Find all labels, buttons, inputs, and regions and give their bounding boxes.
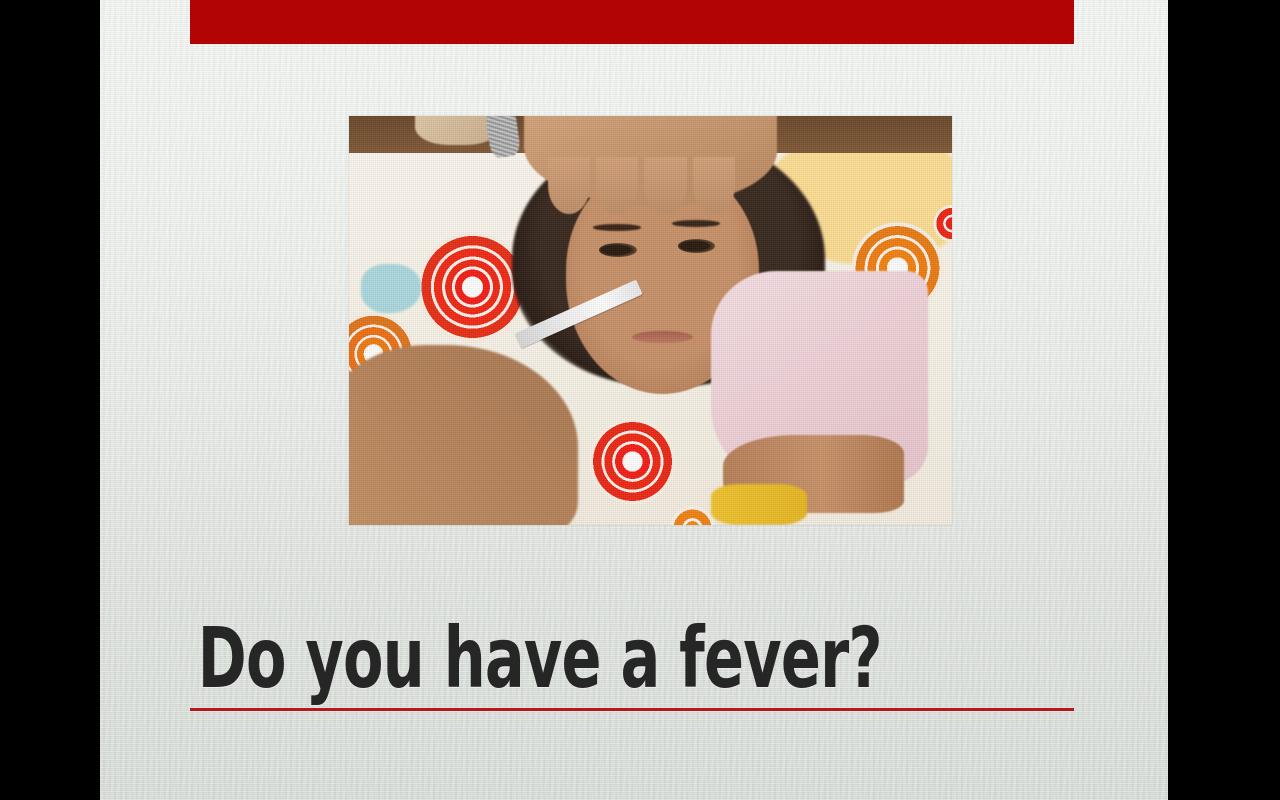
photo-eye-right [678, 239, 715, 253]
photo-eyebrow-left [593, 224, 641, 231]
photo-yellow-blanket-edge [711, 484, 807, 525]
letterbox-right [1168, 0, 1280, 800]
photo-child-mouth [632, 331, 692, 343]
slide-canvas: Do you have a fever? [100, 0, 1168, 800]
sick-child-photo [349, 116, 952, 525]
title-underline-rule [190, 708, 1074, 711]
content-image-frame[interactable] [349, 116, 952, 525]
title-block: Do you have a fever? [190, 612, 1074, 711]
letterbox-left [0, 0, 100, 800]
photo-teal-patch [361, 264, 421, 312]
photo-finger [548, 157, 590, 214]
photo-eyebrow-right [672, 220, 720, 227]
photo-finger [644, 157, 686, 214]
photo-eye-left [599, 243, 636, 257]
presentation-screen: Do you have a fever? [0, 0, 1280, 800]
slide-title[interactable]: Do you have a fever? [190, 612, 880, 704]
top-accent-bar [190, 0, 1074, 44]
photo-finger [693, 157, 735, 214]
